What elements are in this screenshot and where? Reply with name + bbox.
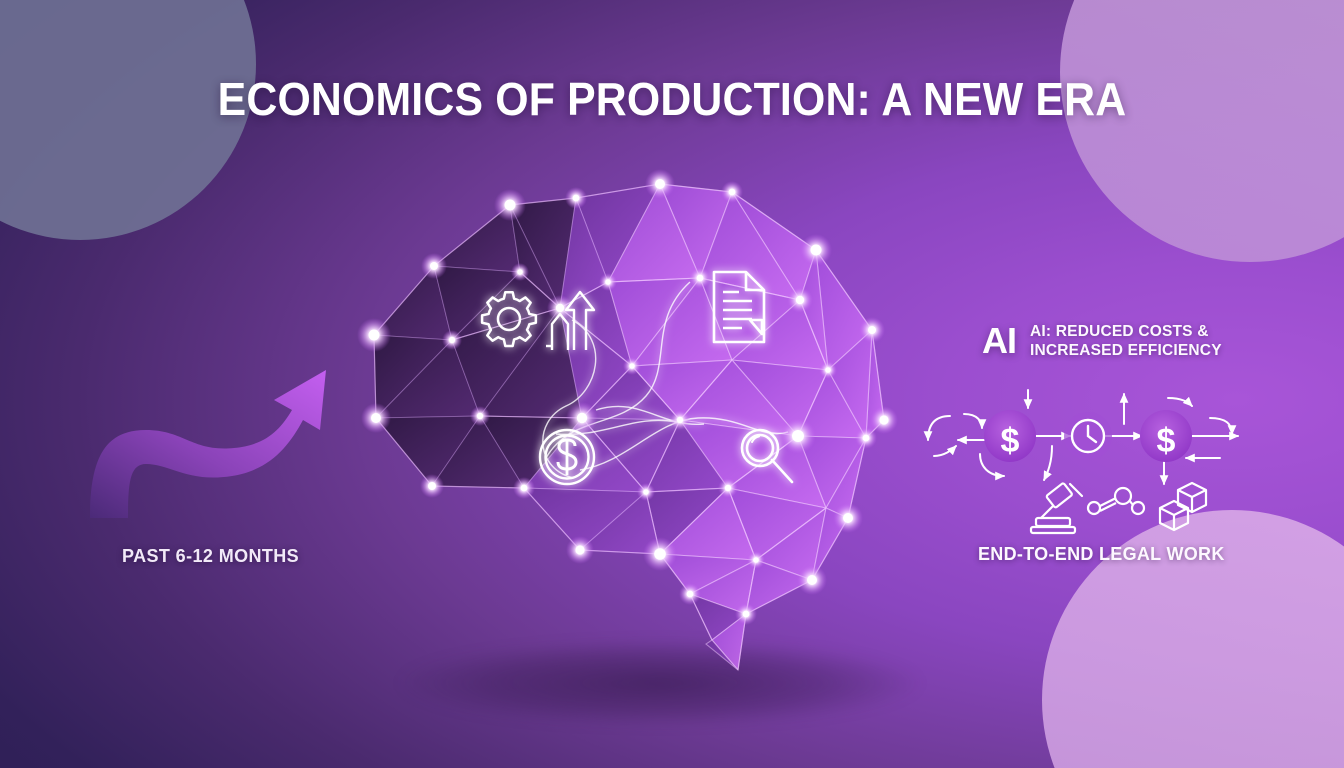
legal-work-label: END-TO-END LEGAL WORK [978, 544, 1225, 565]
gavel-icon [1031, 483, 1082, 533]
page-title: ECONOMICS OF PRODUCTION: A NEW ERA [47, 72, 1297, 126]
ai-header: AI AI: REDUCED COSTS & INCREASED EFFICIE… [940, 322, 1270, 361]
svg-text:$: $ [1157, 422, 1176, 460]
ai-caption-line-1: AI: REDUCED COSTS & [1030, 322, 1222, 341]
slide-canvas: ECONOMICS OF PRODUCTION: A NEW ERA PAST … [0, 0, 1344, 768]
blockchain-cubes-icon [1160, 483, 1206, 530]
svg-text:$: $ [1001, 422, 1020, 460]
low-poly-ai-brain [360, 170, 920, 690]
past-months-label: PAST 6-12 MONTHS [122, 546, 299, 567]
dollar-circle-icon-2: $ [1140, 410, 1192, 462]
dollar-circle-icon: $ [984, 410, 1036, 462]
ai-logo: AI [982, 323, 1016, 359]
ai-caption-line-2: INCREASED EFFICIENCY [1030, 341, 1222, 360]
curved-growth-arrow-icon [84, 360, 334, 520]
ai-benefits-panel: AI AI: REDUCED COSTS & INCREASED EFFICIE… [940, 322, 1270, 592]
clock-circle-icon [1064, 412, 1112, 460]
ai-caption: AI: REDUCED COSTS & INCREASED EFFICIENCY [1030, 322, 1222, 361]
ai-flow-diagram: $ $ [920, 384, 1260, 534]
decorative-circle-top-right [1060, 0, 1344, 262]
network-nodes-icon [1088, 488, 1144, 514]
